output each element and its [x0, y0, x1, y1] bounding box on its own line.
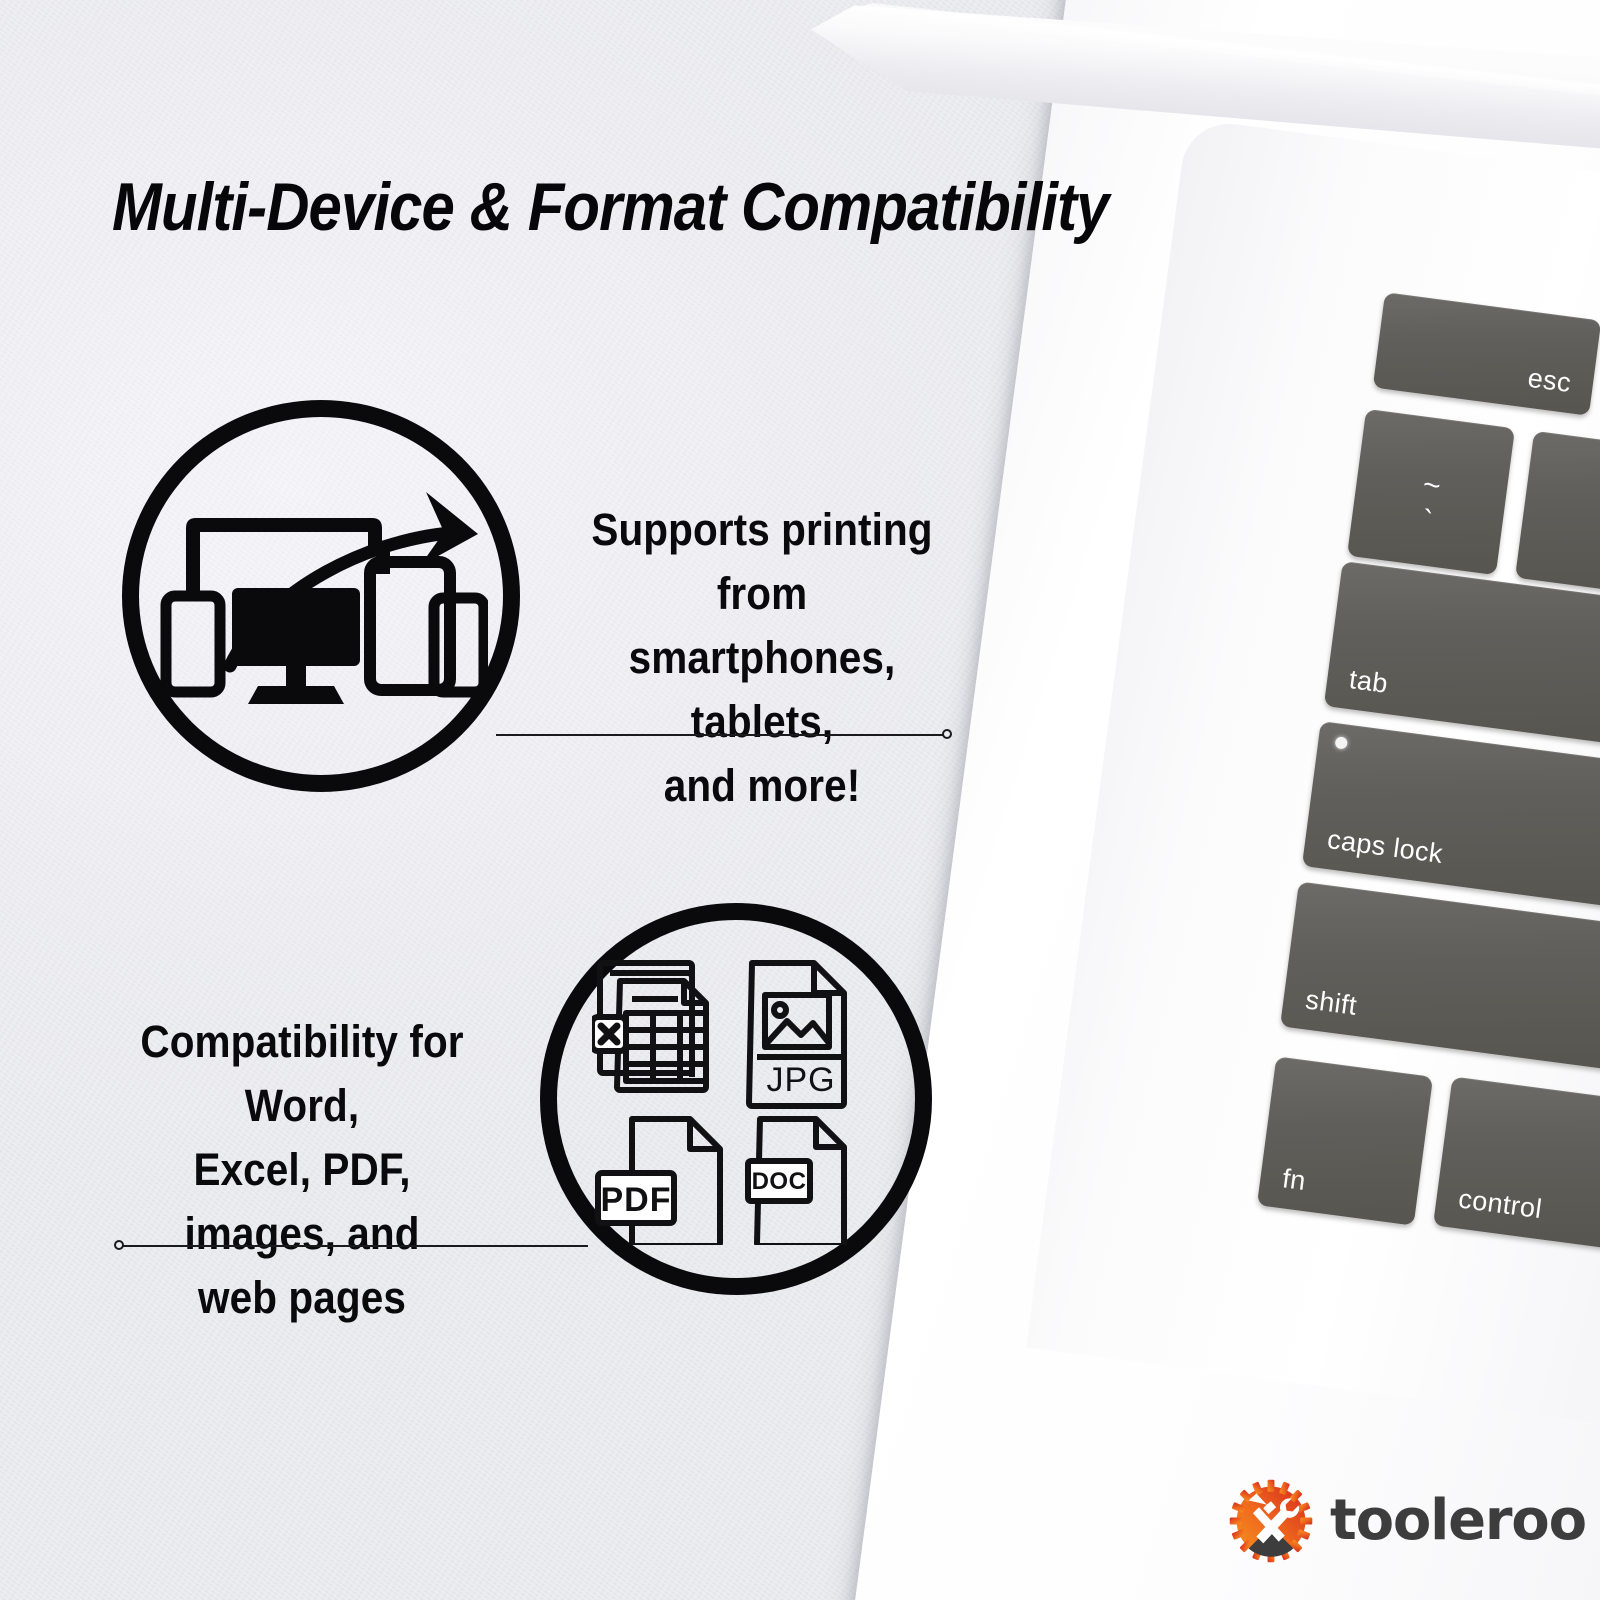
key-tilde[interactable]: ~ `: [1347, 409, 1515, 575]
pdf-label: PDF: [601, 1181, 672, 1219]
brand-wordmark: tooleroo: [1330, 1493, 1586, 1549]
file-formats-icon: JPG PDF DOC: [592, 955, 882, 1245]
devices-connector-line: [496, 734, 948, 736]
caps-lock-led-icon: [1335, 736, 1348, 749]
formats-connector-line: [118, 1245, 588, 1247]
page-title: Multi-Device & Format Compatibility: [112, 168, 1109, 246]
devices-sync-icon: [158, 470, 488, 720]
formats-blurb-line-3: web pages: [113, 1266, 491, 1330]
formats-connector-dot: [114, 1240, 124, 1250]
key-control[interactable]: control: [1433, 1077, 1600, 1250]
key-tilde-glyphs: ~ `: [1351, 462, 1508, 547]
doc-label: DOC: [752, 1168, 807, 1195]
brand-logo[interactable]: tooleroo: [1228, 1478, 1586, 1564]
devices-connector-dot: [942, 729, 952, 739]
devices-blurb: Supports printing from smartphones, tabl…: [573, 498, 951, 817]
key-fn[interactable]: fn: [1257, 1056, 1433, 1225]
formats-blurb: Compatibility for Word, Excel, PDF, imag…: [113, 1010, 491, 1329]
infographic-canvas: esc ~ ` tab caps lock shift fn control M…: [0, 0, 1600, 1600]
formats-blurb-line-1: Compatibility for Word,: [113, 1010, 491, 1138]
gear-hammer-wrench-icon: [1228, 1478, 1314, 1564]
devices-blurb-line-3: and more!: [573, 754, 951, 818]
devices-blurb-line-1: Supports printing from: [573, 498, 951, 626]
excel-spreadsheet-icon: [592, 963, 706, 1090]
jpg-label: JPG: [766, 1061, 835, 1099]
